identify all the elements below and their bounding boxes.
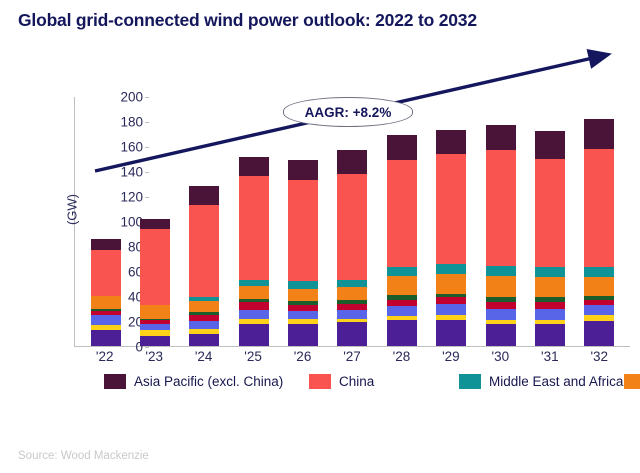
bar-segment bbox=[436, 154, 466, 264]
x-tick-label: '23 bbox=[139, 349, 169, 371]
bar-segment bbox=[140, 336, 170, 346]
bar-24[interactable] bbox=[189, 186, 219, 346]
bar-segment bbox=[535, 324, 565, 347]
bar-segment bbox=[288, 311, 318, 319]
bar-segment bbox=[189, 334, 219, 347]
y-tick-mark bbox=[145, 347, 149, 348]
bar-segment bbox=[486, 125, 516, 150]
bar-25[interactable] bbox=[239, 157, 269, 346]
bar-segment bbox=[486, 276, 516, 297]
x-tick-label: '25 bbox=[238, 349, 268, 371]
bar-segment bbox=[140, 229, 170, 305]
bar-segment bbox=[239, 302, 269, 310]
bar-segment bbox=[239, 157, 269, 176]
bar-segment bbox=[535, 131, 565, 159]
x-tick-label: '27 bbox=[337, 349, 367, 371]
legend-swatch-icon bbox=[309, 374, 331, 389]
bar-segment bbox=[436, 264, 466, 274]
bar-segment bbox=[140, 305, 170, 319]
bar-26[interactable] bbox=[288, 160, 318, 346]
legend-swatch-icon bbox=[624, 374, 640, 389]
bar-segment bbox=[486, 150, 516, 266]
bar-segment bbox=[288, 289, 318, 302]
x-axis-ticks: '22'23'24'25'26'27'28'29'30'31'32 bbox=[74, 349, 630, 371]
bar-29[interactable] bbox=[436, 130, 466, 346]
bar-28[interactable] bbox=[387, 135, 417, 346]
bar-segment bbox=[436, 274, 466, 294]
bar-segment bbox=[436, 320, 466, 346]
bar-segment bbox=[387, 135, 417, 160]
bar-segment bbox=[239, 310, 269, 319]
bar-30[interactable] bbox=[486, 125, 516, 346]
bar-segment bbox=[584, 305, 614, 315]
bar-segment bbox=[535, 159, 565, 268]
bar-segment bbox=[535, 309, 565, 320]
bar-segment bbox=[584, 321, 614, 346]
x-tick-label: '22 bbox=[90, 349, 120, 371]
bar-segment bbox=[189, 321, 219, 329]
bar-segment bbox=[91, 315, 121, 325]
bar-segment bbox=[337, 174, 367, 280]
legend-swatch-icon bbox=[459, 374, 481, 389]
legend-item-asia-pacific[interactable]: Asia Pacific (excl. China) bbox=[104, 374, 309, 389]
bar-segment bbox=[91, 296, 121, 309]
bar-segment bbox=[535, 277, 565, 297]
bar-segment bbox=[337, 322, 367, 346]
bar-segment bbox=[288, 324, 318, 347]
bar-segment bbox=[337, 310, 367, 319]
bar-segment bbox=[387, 267, 417, 276]
bar-segment bbox=[486, 324, 516, 347]
x-tick-label: '26 bbox=[288, 349, 318, 371]
plot-area: (GW) 020406080100120140160180200 bbox=[74, 97, 630, 347]
bar-27[interactable] bbox=[337, 150, 367, 346]
bar-segment bbox=[486, 309, 516, 320]
legend-item-middle-east-africa[interactable]: Middle East and Africa bbox=[459, 374, 624, 389]
bar-segment bbox=[91, 250, 121, 296]
bar-segment bbox=[288, 160, 318, 180]
bar-31[interactable] bbox=[535, 131, 565, 346]
bar-segment bbox=[337, 287, 367, 300]
bar-segment bbox=[288, 281, 318, 289]
bar-segment bbox=[436, 304, 466, 315]
bar-segment bbox=[189, 301, 219, 312]
chart-legend: Asia Pacific (excl. China)ChinaMiddle Ea… bbox=[104, 369, 624, 393]
bar-segment bbox=[486, 266, 516, 276]
bar-segment bbox=[189, 205, 219, 298]
legend-item-label: Asia Pacific (excl. China) bbox=[134, 374, 283, 389]
legend-item-western-europe[interactable]: Western Europe bbox=[624, 374, 640, 389]
bar-segment bbox=[91, 330, 121, 346]
x-tick-label: '31 bbox=[535, 349, 565, 371]
bar-segment bbox=[584, 119, 614, 149]
bar-segment bbox=[239, 176, 269, 280]
bar-segment bbox=[584, 149, 614, 268]
x-tick-label: '28 bbox=[386, 349, 416, 371]
bar-segment bbox=[337, 150, 367, 174]
x-tick-label: '30 bbox=[485, 349, 515, 371]
bar-segment bbox=[584, 277, 614, 296]
bar-segment bbox=[387, 276, 417, 295]
legend-item-label: China bbox=[339, 374, 374, 389]
legend-item-china[interactable]: China bbox=[309, 374, 459, 389]
x-tick-label: '24 bbox=[189, 349, 219, 371]
bar-segment bbox=[337, 280, 367, 288]
bar-segment bbox=[584, 267, 614, 277]
source-note: Source: Wood Mackenzie bbox=[18, 450, 149, 462]
bar-segment bbox=[288, 180, 318, 281]
bar-segment bbox=[387, 160, 417, 268]
bar-group bbox=[75, 96, 630, 346]
bar-23[interactable] bbox=[140, 219, 170, 347]
bar-segment bbox=[387, 306, 417, 316]
bar-segment bbox=[535, 267, 565, 277]
legend-item-label: Middle East and Africa bbox=[489, 374, 623, 389]
bar-32[interactable] bbox=[584, 119, 614, 347]
bar-segment bbox=[239, 324, 269, 347]
bar-22[interactable] bbox=[91, 239, 121, 347]
bar-segment bbox=[436, 130, 466, 154]
page-title: Global grid-connected wind power outlook… bbox=[18, 10, 477, 31]
plot-region bbox=[75, 96, 630, 346]
x-tick-label: '29 bbox=[436, 349, 466, 371]
bar-segment bbox=[387, 320, 417, 346]
bar-segment bbox=[239, 286, 269, 299]
legend-swatch-icon bbox=[104, 374, 126, 389]
bar-segment bbox=[189, 186, 219, 205]
x-tick-label: '32 bbox=[584, 349, 614, 371]
bar-segment bbox=[91, 239, 121, 250]
chart-page: Global grid-connected wind power outlook… bbox=[0, 0, 640, 473]
bar-segment bbox=[140, 219, 170, 229]
